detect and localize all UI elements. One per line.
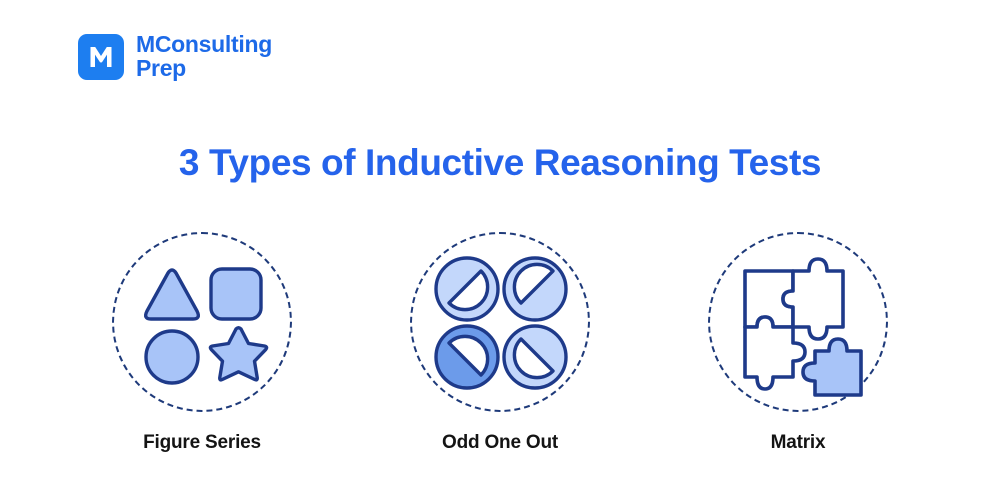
m-logo-icon xyxy=(78,34,124,80)
disc-bottom-right xyxy=(504,326,566,388)
card-figure-series[interactable]: Figure Series xyxy=(102,232,302,454)
page-title: 3 Types of Inductive Reasoning Tests xyxy=(0,142,1000,184)
shape-star xyxy=(210,328,266,380)
disc-top-left xyxy=(436,258,498,320)
disc-bottom-left-highlighted xyxy=(436,326,498,388)
shape-triangle xyxy=(146,270,199,319)
puzzle-piece-detached-filled xyxy=(803,339,861,395)
brand-name-line2: Prep xyxy=(136,57,272,81)
shapes-icon xyxy=(112,232,292,412)
card-row: Figure Series xyxy=(0,232,1000,454)
brand-name: MConsulting Prep xyxy=(136,33,272,81)
brand-logo[interactable]: MConsulting Prep xyxy=(78,33,272,81)
disc-top-right xyxy=(504,258,566,320)
shape-rounded-square xyxy=(211,269,261,319)
half-discs-icon xyxy=(410,232,590,412)
card-label-matrix: Matrix xyxy=(771,432,826,454)
card-label-odd-one-out: Odd One Out xyxy=(442,432,558,454)
card-matrix[interactable]: Matrix xyxy=(698,232,898,454)
card-odd-one-out[interactable]: Odd One Out xyxy=(400,232,600,454)
puzzle-icon xyxy=(708,232,888,412)
shape-circle xyxy=(146,331,198,383)
card-label-figure-series: Figure Series xyxy=(143,432,261,454)
brand-name-line1: MConsulting xyxy=(136,33,272,57)
